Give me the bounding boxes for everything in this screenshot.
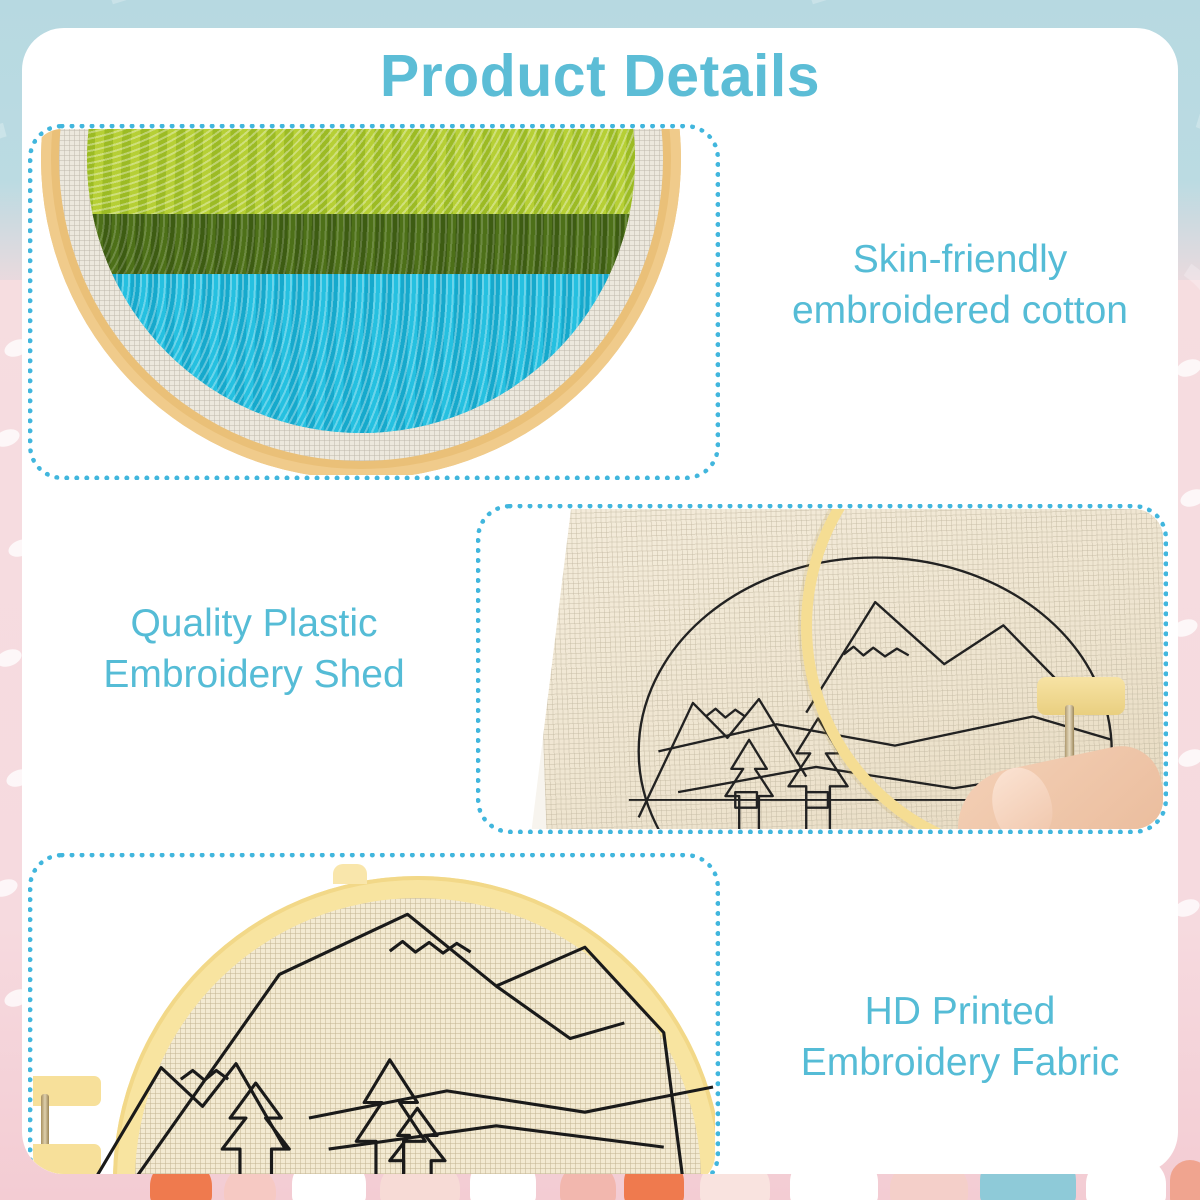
hoop-tension-bracket-top <box>1037 677 1125 715</box>
wooden-hoop-ring <box>41 129 681 475</box>
printed-landscape-lineart <box>33 858 715 1174</box>
feature-image-hd-printed-fabric <box>28 853 720 1174</box>
product-details-card: Product Details <box>22 28 1178 1174</box>
yarn-band-blue-water <box>87 274 635 433</box>
hand-holding-plastic-hoop-image <box>481 509 1163 829</box>
caption-skin-friendly-cotton: Skin-friendly embroidered cotton <box>740 234 1178 337</box>
page-title: Product Details <box>22 46 1178 108</box>
caption-hd-printed-fabric: HD Printed Embroidery Fabric <box>740 986 1178 1089</box>
yarn-stitch-area <box>87 129 635 433</box>
caption-plastic-embroidery-shed: Quality Plastic Embroidery Shed <box>34 598 474 701</box>
punch-needle-embroidery-closeup-image <box>33 129 715 475</box>
feature-image-skin-friendly-cotton <box>28 124 720 480</box>
feature-image-plastic-embroidery-shed <box>476 504 1168 834</box>
hd-printed-aida-fabric-image <box>33 858 715 1174</box>
